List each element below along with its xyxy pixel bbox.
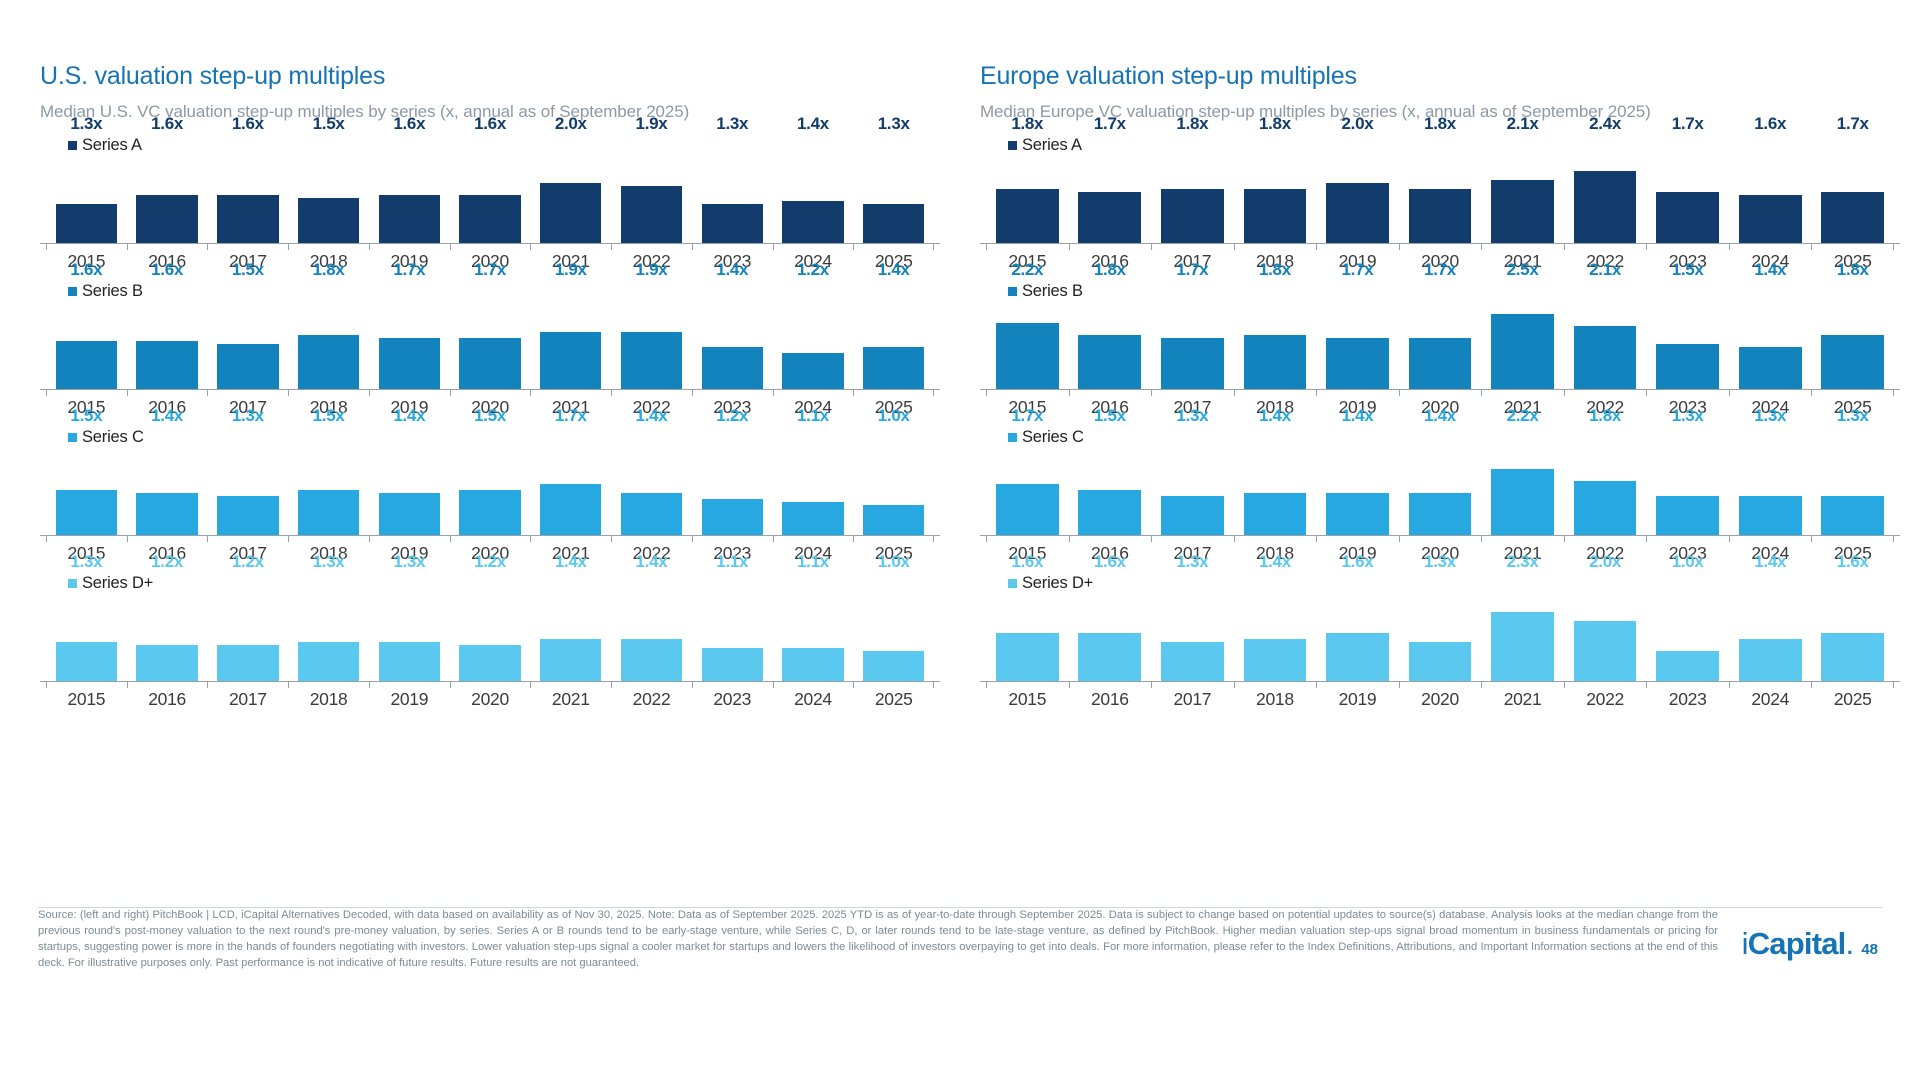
bar-column[interactable]: 1.2x bbox=[773, 282, 854, 389]
bar-column[interactable]: 1.8x bbox=[1151, 136, 1234, 243]
bar[interactable]: 1.6x bbox=[56, 341, 117, 389]
bar-value-label: 1.3x bbox=[1672, 406, 1704, 426]
brand-suffix: . bbox=[1845, 926, 1853, 961]
bar-value-label: 1.8x bbox=[313, 260, 345, 280]
bar-value-label: 2.0x bbox=[555, 114, 587, 134]
bar-value-label: 1.3x bbox=[393, 552, 425, 572]
bar-value-label: 1.6x bbox=[474, 114, 506, 134]
bar[interactable]: 1.4x bbox=[702, 347, 763, 389]
x-axis-tick-label: 2015 bbox=[46, 682, 127, 710]
bar[interactable]: 1.8x bbox=[1244, 189, 1307, 243]
bar-value-label: 1.8x bbox=[1259, 260, 1291, 280]
bar[interactable]: 2.0x bbox=[1574, 621, 1637, 681]
bar[interactable]: 1.9x bbox=[621, 332, 682, 389]
bar-value-label: 1.7x bbox=[555, 406, 587, 426]
bar-column[interactable]: 1.4x bbox=[1234, 428, 1317, 535]
chart-legend: Series B bbox=[1008, 282, 1083, 301]
bar-column[interactable]: 2.0x bbox=[1316, 136, 1399, 243]
bar[interactable]: 1.3x bbox=[1161, 642, 1224, 681]
bar[interactable]: 2.0x bbox=[1326, 183, 1389, 243]
brand-name: iCapital. bbox=[1742, 926, 1854, 962]
bar[interactable]: 1.4x bbox=[1739, 639, 1802, 681]
bar-column[interactable]: 1.4x bbox=[773, 136, 854, 243]
x-axis-tick-label: 2015 bbox=[986, 682, 1069, 710]
x-axis-tick-label: 2024 bbox=[773, 682, 854, 710]
legend-swatch-icon bbox=[68, 579, 77, 588]
bar[interactable]: 2.2x bbox=[996, 323, 1059, 389]
bar[interactable]: 1.7x bbox=[996, 484, 1059, 535]
x-axis-tick-label: 2016 bbox=[127, 682, 208, 710]
plot-area: 1.8x1.7x1.8x1.8x2.0x1.8x2.1x2.4x1.7x1.6x… bbox=[980, 136, 1900, 244]
legend-label: Series D+ bbox=[82, 574, 153, 593]
chart-us-series-b: Series B1.6x1.6x1.5x1.8x1.7x1.7x1.9x1.9x… bbox=[40, 282, 940, 424]
bar[interactable]: 1.8x bbox=[298, 335, 359, 389]
bar-value-label: 2.4x bbox=[1589, 114, 1621, 134]
bar-column[interactable]: 1.1x bbox=[692, 574, 773, 681]
bar-column[interactable]: 1.3x bbox=[1646, 428, 1729, 535]
bar[interactable]: 1.7x bbox=[540, 484, 601, 535]
bar-column[interactable]: 1.9x bbox=[611, 136, 692, 243]
bar[interactable]: 1.4x bbox=[621, 493, 682, 535]
legend-label: Series A bbox=[82, 136, 142, 155]
bar-column[interactable]: 1.3x bbox=[1151, 574, 1234, 681]
bar[interactable]: 1.5x bbox=[217, 344, 278, 389]
bar-value-label: 1.5x bbox=[313, 406, 345, 426]
bar[interactable]: 1.2x bbox=[136, 645, 197, 681]
bar[interactable]: 1.1x bbox=[782, 648, 843, 681]
bar-value-label: 1.6x bbox=[151, 260, 183, 280]
bar-column[interactable]: 1.6x bbox=[1316, 574, 1399, 681]
bar-value-label: 1.5x bbox=[313, 114, 345, 134]
bar-column[interactable]: 2.2x bbox=[1481, 428, 1564, 535]
bar-column[interactable]: 1.1x bbox=[773, 574, 854, 681]
x-axis-tick-label: 2024 bbox=[1729, 682, 1812, 710]
legend-swatch-icon bbox=[1008, 141, 1017, 150]
chart-us-series-a: Series A1.3x1.6x1.6x1.5x1.6x1.6x2.0x1.9x… bbox=[40, 136, 940, 278]
bar[interactable]: 1.3x bbox=[863, 204, 924, 243]
plot-area: 1.5x1.4x1.3x1.5x1.4x1.5x1.7x1.4x1.2x1.1x… bbox=[40, 428, 940, 536]
chart-legend: Series D+ bbox=[68, 574, 153, 593]
bar-column[interactable]: 1.8x bbox=[1564, 428, 1647, 535]
bar-value-label: 1.6x bbox=[151, 114, 183, 134]
x-axis-tick-label: 2018 bbox=[288, 682, 369, 710]
bar-value-label: 1.4x bbox=[1754, 260, 1786, 280]
bar-value-label: 1.4x bbox=[878, 260, 910, 280]
bar-value-label: 1.2x bbox=[797, 260, 829, 280]
chart-us-series-c: Series C1.5x1.4x1.3x1.5x1.4x1.5x1.7x1.4x… bbox=[40, 428, 940, 570]
bar-column[interactable]: 1.4x bbox=[611, 428, 692, 535]
chart-europe-series-d-: Series D+1.6x1.6x1.3x1.4x1.6x1.3x2.3x2.0… bbox=[980, 574, 1900, 716]
page-number: 48 bbox=[1861, 941, 1878, 958]
bar[interactable]: 1.2x bbox=[782, 353, 843, 389]
bar[interactable]: 1.3x bbox=[1409, 642, 1472, 681]
bar-value-label: 1.3x bbox=[70, 552, 102, 572]
bar-value-label: 1.4x bbox=[1424, 406, 1456, 426]
bar[interactable]: 2.2x bbox=[1491, 469, 1554, 535]
bar-value-label: 1.9x bbox=[636, 114, 668, 134]
bar[interactable]: 1.6x bbox=[1078, 633, 1141, 681]
bar-column[interactable]: 1.4x bbox=[692, 282, 773, 389]
bar-value-label: 1.7x bbox=[1094, 114, 1126, 134]
bar[interactable]: 1.4x bbox=[540, 639, 601, 681]
bar[interactable]: 1.7x bbox=[1821, 192, 1884, 243]
bar-column[interactable]: 1.9x bbox=[611, 282, 692, 389]
plot-area: 1.3x1.2x1.2x1.3x1.3x1.2x1.4x1.4x1.1x1.1x… bbox=[40, 574, 940, 682]
legend-label: Series C bbox=[1022, 428, 1084, 447]
bar-value-label: 1.7x bbox=[1424, 260, 1456, 280]
charts-us: Series A1.3x1.6x1.6x1.5x1.6x1.6x2.0x1.9x… bbox=[40, 136, 940, 716]
bar-column[interactable]: 1.3x bbox=[853, 136, 934, 243]
bar-value-label: 1.6x bbox=[1011, 552, 1043, 572]
bar-value-label: 1.6x bbox=[393, 114, 425, 134]
bar[interactable]: 1.3x bbox=[379, 642, 440, 681]
bar-value-label: 1.3x bbox=[878, 114, 910, 134]
bar-column[interactable]: 1.4x bbox=[1316, 428, 1399, 535]
bar-column[interactable]: 1.6x bbox=[207, 136, 288, 243]
bar-value-label: 1.3x bbox=[313, 552, 345, 572]
bar[interactable]: 1.4x bbox=[1326, 493, 1389, 535]
bar[interactable]: 1.8x bbox=[1161, 189, 1224, 243]
x-axis-tick-label: 2021 bbox=[530, 682, 611, 710]
bar-value-label: 1.7x bbox=[393, 260, 425, 280]
bar-value-label: 1.6x bbox=[232, 114, 264, 134]
plot-area: 1.6x1.6x1.5x1.8x1.7x1.7x1.9x1.9x1.4x1.2x… bbox=[40, 282, 940, 390]
x-axis-tick-label: 2023 bbox=[1646, 682, 1729, 710]
bar-value-label: 1.3x bbox=[1837, 406, 1869, 426]
bar-column[interactable]: 1.0x bbox=[853, 428, 934, 535]
bar[interactable]: 1.4x bbox=[1739, 347, 1802, 389]
bar-value-label: 2.2x bbox=[1011, 260, 1043, 280]
bar-column[interactable]: 1.7x bbox=[1811, 136, 1894, 243]
bar-value-label: 1.6x bbox=[1342, 552, 1374, 572]
bar-value-label: 1.6x bbox=[1837, 552, 1869, 572]
bar-value-label: 1.7x bbox=[1837, 114, 1869, 134]
bar[interactable]: 1.3x bbox=[298, 642, 359, 681]
bar[interactable]: 2.3x bbox=[1491, 612, 1554, 681]
bar-value-label: 1.4x bbox=[393, 406, 425, 426]
bar[interactable]: 1.7x bbox=[1326, 338, 1389, 389]
legend-swatch-icon bbox=[68, 141, 77, 150]
bar-column[interactable]: 2.1x bbox=[1481, 136, 1564, 243]
bar[interactable]: 2.1x bbox=[1574, 326, 1637, 389]
bar-value-label: 1.5x bbox=[232, 260, 264, 280]
bar-column[interactable]: 1.0x bbox=[853, 574, 934, 681]
bar[interactable]: 1.4x bbox=[379, 493, 440, 535]
bar-value-label: 1.0x bbox=[878, 406, 910, 426]
bar-column[interactable]: 2.4x bbox=[1564, 136, 1647, 243]
bar[interactable]: 1.3x bbox=[1739, 496, 1802, 535]
legend-swatch-icon bbox=[68, 287, 77, 296]
bar[interactable]: 1.7x bbox=[379, 338, 440, 389]
bar-value-label: 1.3x bbox=[716, 114, 748, 134]
bar-value-label: 2.0x bbox=[1342, 114, 1374, 134]
bar[interactable]: 1.6x bbox=[1739, 195, 1802, 243]
bar-column[interactable]: 1.8x bbox=[1399, 136, 1482, 243]
bar-value-label: 1.2x bbox=[151, 552, 183, 572]
bar-value-label: 1.3x bbox=[232, 406, 264, 426]
bar-value-label: 1.4x bbox=[636, 406, 668, 426]
bar[interactable]: 1.8x bbox=[1078, 335, 1141, 389]
bar-value-label: 1.5x bbox=[474, 406, 506, 426]
charts-europe: Series A1.8x1.7x1.8x1.8x2.0x1.8x2.1x2.4x… bbox=[980, 136, 1900, 716]
bar-column[interactable]: 1.6x bbox=[369, 136, 450, 243]
bar-column[interactable]: 1.4x bbox=[369, 428, 450, 535]
legend-label: Series B bbox=[1022, 282, 1083, 301]
chart-legend: Series C bbox=[68, 428, 144, 447]
bar-column[interactable]: 1.2x bbox=[207, 574, 288, 681]
bar[interactable]: 1.9x bbox=[621, 186, 682, 243]
bar-column[interactable]: 1.7x bbox=[450, 282, 531, 389]
chart-legend: Series D+ bbox=[1008, 574, 1093, 593]
bar-value-label: 1.0x bbox=[878, 552, 910, 572]
bar-column[interactable]: 1.5x bbox=[207, 282, 288, 389]
bar-value-label: 1.4x bbox=[1259, 552, 1291, 572]
bar-value-label: 1.8x bbox=[1176, 114, 1208, 134]
bar-value-label: 2.1x bbox=[1507, 114, 1539, 134]
plot-area: 1.3x1.6x1.6x1.5x1.6x1.6x2.0x1.9x1.3x1.4x… bbox=[40, 136, 940, 244]
legend-swatch-icon bbox=[1008, 579, 1017, 588]
bar[interactable]: 1.3x bbox=[1821, 496, 1884, 535]
bar[interactable]: 1.4x bbox=[1409, 493, 1472, 535]
bar[interactable]: 1.6x bbox=[136, 195, 197, 243]
bar[interactable]: 1.3x bbox=[1656, 496, 1719, 535]
bar-value-label: 1.7x bbox=[1342, 260, 1374, 280]
bar-column[interactable]: 1.3x bbox=[207, 428, 288, 535]
bar[interactable]: 1.8x bbox=[1821, 335, 1884, 389]
bar[interactable]: 1.2x bbox=[217, 645, 278, 681]
bar-value-label: 1.7x bbox=[1672, 114, 1704, 134]
x-axis-tick-label: 2016 bbox=[1069, 682, 1152, 710]
bar[interactable]: 2.0x bbox=[540, 183, 601, 243]
bar-column[interactable]: 1.4x bbox=[1729, 282, 1812, 389]
chart-legend: Series B bbox=[68, 282, 143, 301]
bar-value-label: 1.4x bbox=[716, 260, 748, 280]
bar[interactable]: 1.2x bbox=[702, 499, 763, 535]
bar-column[interactable]: 1.7x bbox=[1646, 136, 1729, 243]
bar-column[interactable]: 1.7x bbox=[530, 428, 611, 535]
bar-column[interactable]: 1.7x bbox=[1151, 282, 1234, 389]
bar[interactable]: 1.5x bbox=[298, 490, 359, 535]
bar-column[interactable]: 1.4x bbox=[853, 282, 934, 389]
bar-column[interactable]: 1.8x bbox=[288, 282, 369, 389]
chart-europe-series-c: Series C1.7x1.5x1.3x1.4x1.4x1.4x2.2x1.8x… bbox=[980, 428, 1900, 570]
x-axis-tick-label: 2022 bbox=[1564, 682, 1647, 710]
bar-column[interactable]: 2.0x bbox=[1564, 574, 1647, 681]
bar[interactable]: 1.7x bbox=[1078, 192, 1141, 243]
bar-column[interactable]: 1.8x bbox=[1234, 282, 1317, 389]
bar-value-label: 1.8x bbox=[1837, 260, 1869, 280]
bar-value-label: 1.4x bbox=[1754, 552, 1786, 572]
chart-europe-series-b: Series B2.2x1.8x1.7x1.8x1.7x1.7x2.5x2.1x… bbox=[980, 282, 1900, 424]
bar[interactable]: 1.1x bbox=[782, 502, 843, 535]
bar-column[interactable]: 1.2x bbox=[692, 428, 773, 535]
x-axis-tick-label: 2018 bbox=[1234, 682, 1317, 710]
bar[interactable]: 1.3x bbox=[1161, 496, 1224, 535]
legend-swatch-icon bbox=[68, 433, 77, 442]
bar-column[interactable]: 1.3x bbox=[1811, 428, 1894, 535]
bar-value-label: 1.5x bbox=[70, 406, 102, 426]
panel-europe: Europe valuation step-up multiples Media… bbox=[960, 0, 1920, 720]
bar[interactable]: 1.3x bbox=[56, 204, 117, 243]
bar-value-label: 1.5x bbox=[1672, 260, 1704, 280]
bar[interactable]: 1.3x bbox=[217, 496, 278, 535]
bar-value-label: 1.8x bbox=[1424, 114, 1456, 134]
bar-value-label: 1.3x bbox=[1176, 552, 1208, 572]
legend-label: Series C bbox=[82, 428, 144, 447]
bar-column[interactable]: 1.5x bbox=[288, 136, 369, 243]
bar-value-label: 1.5x bbox=[1094, 406, 1126, 426]
bar-column[interactable]: 1.3x bbox=[369, 574, 450, 681]
bar-value-label: 2.2x bbox=[1507, 406, 1539, 426]
bar-column[interactable]: 1.1x bbox=[773, 428, 854, 535]
bar-column[interactable]: 1.9x bbox=[530, 282, 611, 389]
bar-value-label: 1.8x bbox=[1011, 114, 1043, 134]
bar-column[interactable]: 1.4x bbox=[1729, 574, 1812, 681]
bar-value-label: 2.3x bbox=[1507, 552, 1539, 572]
panel-us: U.S. valuation step-up multiples Median … bbox=[0, 0, 960, 720]
bar-value-label: 1.3x bbox=[70, 114, 102, 134]
bar-column[interactable]: 1.3x bbox=[1399, 574, 1482, 681]
bar-column[interactable]: 1.6x bbox=[1729, 136, 1812, 243]
slide-root: U.S. valuation step-up multiples Median … bbox=[0, 0, 1920, 1080]
bar[interactable]: 1.4x bbox=[863, 347, 924, 389]
x-axis-tick-label: 2017 bbox=[1151, 682, 1234, 710]
bar-column[interactable]: 1.5x bbox=[450, 428, 531, 535]
bar[interactable]: 1.8x bbox=[996, 189, 1059, 243]
x-axis-tick-label: 2022 bbox=[611, 682, 692, 710]
bar-value-label: 1.3x bbox=[1176, 406, 1208, 426]
bar[interactable]: 1.2x bbox=[459, 645, 520, 681]
bar-column[interactable]: 2.0x bbox=[530, 136, 611, 243]
bar[interactable]: 1.6x bbox=[217, 195, 278, 243]
bar[interactable]: 1.1x bbox=[702, 648, 763, 681]
bar[interactable]: 1.4x bbox=[782, 201, 843, 243]
bar-column[interactable]: 1.3x bbox=[1729, 428, 1812, 535]
bar[interactable]: 1.7x bbox=[1656, 192, 1719, 243]
bar-column[interactable]: 1.4x bbox=[1234, 574, 1317, 681]
bar-value-label: 2.0x bbox=[1589, 552, 1621, 572]
bar[interactable]: 1.0x bbox=[1656, 651, 1719, 681]
x-axis-tick-label: 2023 bbox=[692, 682, 773, 710]
bar[interactable]: 1.6x bbox=[379, 195, 440, 243]
bar[interactable]: 1.8x bbox=[1409, 189, 1472, 243]
bar-column[interactable]: 1.4x bbox=[1399, 428, 1482, 535]
footer-source-note: Source: (left and right) PitchBook | LCD… bbox=[38, 908, 1718, 972]
bar[interactable]: 1.4x bbox=[1244, 639, 1307, 681]
bar-column[interactable]: 1.4x bbox=[530, 574, 611, 681]
bar-value-label: 1.2x bbox=[716, 406, 748, 426]
bar-value-label: 1.2x bbox=[474, 552, 506, 572]
bar-column[interactable]: 1.5x bbox=[288, 428, 369, 535]
bar[interactable]: 2.1x bbox=[1491, 180, 1554, 243]
bar-column[interactable]: 1.3x bbox=[692, 136, 773, 243]
bar[interactable]: 2.4x bbox=[1574, 171, 1637, 243]
bar-column[interactable]: 1.7x bbox=[369, 282, 450, 389]
bar-value-label: 1.4x bbox=[797, 114, 829, 134]
bar[interactable]: 1.6x bbox=[1326, 633, 1389, 681]
chart-legend: Series A bbox=[68, 136, 142, 155]
x-axis-tick-label: 2017 bbox=[207, 682, 288, 710]
bar-value-label: 1.4x bbox=[636, 552, 668, 572]
bar-value-label: 1.6x bbox=[70, 260, 102, 280]
bar-column[interactable]: 1.3x bbox=[1151, 428, 1234, 535]
legend-swatch-icon bbox=[1008, 287, 1017, 296]
bar-column[interactable]: 1.4x bbox=[611, 574, 692, 681]
bar[interactable]: 1.5x bbox=[1656, 344, 1719, 389]
bar-value-label: 1.9x bbox=[555, 260, 587, 280]
bar[interactable]: 1.4x bbox=[621, 639, 682, 681]
bar[interactable]: 1.8x bbox=[1244, 335, 1307, 389]
bar-column[interactable]: 2.5x bbox=[1481, 282, 1564, 389]
bar[interactable]: 1.8x bbox=[1574, 481, 1637, 535]
bar[interactable]: 1.6x bbox=[136, 341, 197, 389]
bar[interactable]: 1.7x bbox=[1161, 338, 1224, 389]
bar[interactable]: 1.6x bbox=[1821, 633, 1884, 681]
bar-value-label: 1.4x bbox=[151, 406, 183, 426]
bar-value-label: 1.6x bbox=[1094, 552, 1126, 572]
bar[interactable]: 1.7x bbox=[1409, 338, 1472, 389]
bar-column[interactable]: 2.3x bbox=[1481, 574, 1564, 681]
bar[interactable]: 1.6x bbox=[996, 633, 1059, 681]
page-title-us: U.S. valuation step-up multiples bbox=[40, 62, 940, 91]
bar[interactable]: 1.4x bbox=[1244, 493, 1307, 535]
bar[interactable]: 1.3x bbox=[56, 642, 117, 681]
bar-column[interactable]: 1.8x bbox=[1234, 136, 1317, 243]
bar-column[interactable]: 2.1x bbox=[1564, 282, 1647, 389]
bar-value-label: 1.2x bbox=[232, 552, 264, 572]
chart-legend: Series A bbox=[1008, 136, 1082, 155]
legend-swatch-icon bbox=[1008, 433, 1017, 442]
bar[interactable]: 1.7x bbox=[459, 338, 520, 389]
bar-column[interactable]: 1.3x bbox=[288, 574, 369, 681]
bar-value-label: 1.0x bbox=[1672, 552, 1704, 572]
bar-column[interactable]: 1.5x bbox=[1646, 282, 1729, 389]
bar-value-label: 1.6x bbox=[1754, 114, 1786, 134]
bar[interactable]: 1.0x bbox=[863, 651, 924, 681]
bar-value-label: 1.8x bbox=[1094, 260, 1126, 280]
bar-value-label: 1.1x bbox=[797, 406, 829, 426]
bar-value-label: 1.7x bbox=[1176, 260, 1208, 280]
bar-column[interactable]: 1.0x bbox=[1646, 574, 1729, 681]
plot-area: 2.2x1.8x1.7x1.8x1.7x1.7x2.5x2.1x1.5x1.4x… bbox=[980, 282, 1900, 390]
legend-label: Series D+ bbox=[1022, 574, 1093, 593]
x-axis-tick-label: 2019 bbox=[1316, 682, 1399, 710]
chart-legend: Series C bbox=[1008, 428, 1084, 447]
bar-column[interactable]: 1.7x bbox=[1316, 282, 1399, 389]
bar[interactable]: 1.0x bbox=[863, 505, 924, 535]
bar[interactable]: 1.4x bbox=[136, 493, 197, 535]
x-axis-tick-label: 2021 bbox=[1481, 682, 1564, 710]
bar-column[interactable]: 1.2x bbox=[450, 574, 531, 681]
bar[interactable]: 1.5x bbox=[298, 198, 359, 243]
bar-column[interactable]: 1.7x bbox=[1399, 282, 1482, 389]
bar-column[interactable]: 1.8x bbox=[1811, 282, 1894, 389]
bar[interactable]: 1.5x bbox=[459, 490, 520, 535]
bar[interactable]: 1.9x bbox=[540, 332, 601, 389]
x-axis-tick-label: 2020 bbox=[450, 682, 531, 710]
x-axis-tick-label: 2025 bbox=[1811, 682, 1894, 710]
page-title-europe: Europe valuation step-up multiples bbox=[980, 62, 1900, 91]
bar[interactable]: 1.6x bbox=[459, 195, 520, 243]
bar[interactable]: 1.5x bbox=[56, 490, 117, 535]
bar[interactable]: 1.5x bbox=[1078, 490, 1141, 535]
x-axis-ticks: 2015201620172018201920202021202220232024… bbox=[40, 682, 940, 710]
bar[interactable]: 1.3x bbox=[702, 204, 763, 243]
bar-column[interactable]: 1.6x bbox=[450, 136, 531, 243]
x-axis-tick-label: 2019 bbox=[369, 682, 450, 710]
bar[interactable]: 2.5x bbox=[1491, 314, 1554, 389]
bar-column[interactable]: 1.6x bbox=[1811, 574, 1894, 681]
